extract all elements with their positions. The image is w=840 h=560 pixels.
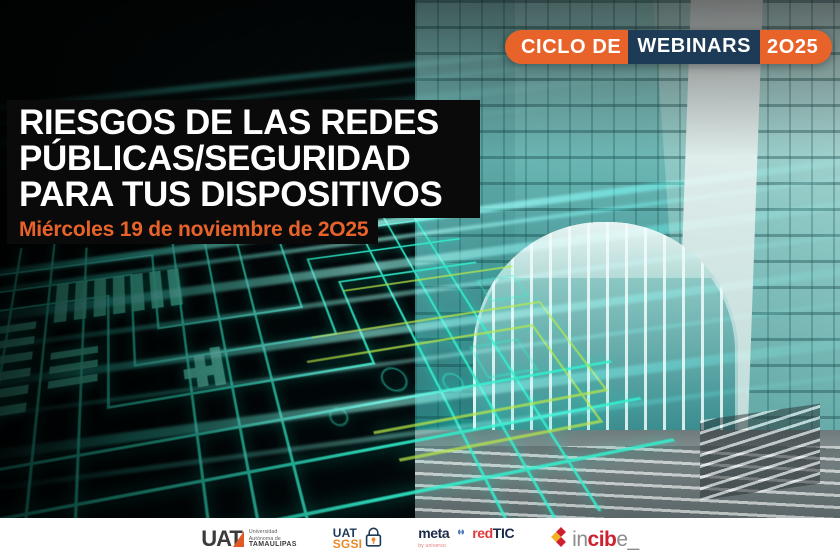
- building-side-stairs: [700, 404, 820, 501]
- logo-metaredtic: meta redTIC by universo: [418, 527, 514, 552]
- logo-uat-sgsi: UAT SGSI: [333, 527, 382, 552]
- logo-uat-tamaulipas: UAT Universidad Autónoma de TAMAULIPAS: [201, 529, 296, 549]
- uat-wordmark: UAT: [201, 529, 244, 549]
- uat-triangle-icon: [233, 531, 244, 547]
- logo-incibe: incibe_: [550, 527, 639, 552]
- metaredtic-main: meta redTIC: [418, 527, 514, 540]
- sponsor-footer: UAT Universidad Autónoma de TAMAULIPAS U…: [0, 518, 840, 560]
- title-line-1: RIESGOS DE LAS REDES: [19, 105, 480, 141]
- event-date: Miércoles 19 de noviembre de 2O25: [19, 218, 368, 242]
- ribbon-highlight: WEBINARS: [628, 30, 760, 64]
- sgsi-wordmark: UAT SGSI: [333, 528, 362, 550]
- uat-subtitle-line3: TAMAULIPAS: [249, 541, 297, 548]
- uat-subtitle: Universidad Autónoma de TAMAULIPAS: [249, 529, 297, 549]
- incibe-part2: cib: [588, 528, 617, 551]
- metaredtic-part1: meta: [418, 525, 449, 541]
- title-line-3: PARA TUS DISPOSITIVOS: [19, 177, 480, 213]
- metaredtic-part2: red: [472, 525, 493, 541]
- ribbon-year: 2O25: [767, 36, 818, 59]
- title-block: RIESGOS DE LAS REDES PÚBLICAS/SEGURIDAD …: [7, 100, 480, 218]
- incibe-diamond-icon: [550, 527, 567, 552]
- metaredtic-wordmark: meta redTIC by universo: [418, 527, 514, 552]
- incibe-wordmark: incibe_: [572, 529, 639, 550]
- chain-link-icon: [455, 524, 471, 541]
- incibe-part3: e_: [616, 528, 638, 551]
- padlock-icon: [365, 527, 382, 552]
- ribbon-prefix: CICLO DE: [521, 36, 621, 59]
- title-line-2: PÚBLICAS/SEGURIDAD: [19, 141, 480, 177]
- webinar-poster: CICLO DE WEBINARS 2O25 RIESGOS DE LAS RE…: [0, 0, 840, 560]
- date-block: Miércoles 19 de noviembre de 2O25: [7, 216, 378, 244]
- metaredtic-tagline: by universo: [418, 540, 514, 552]
- ciclo-webinars-ribbon: CICLO DE WEBINARS 2O25: [505, 30, 832, 64]
- incibe-part1: in: [572, 528, 587, 551]
- sgsi-bottom-text: SGSI: [333, 539, 362, 550]
- metaredtic-part3: TIC: [493, 525, 514, 541]
